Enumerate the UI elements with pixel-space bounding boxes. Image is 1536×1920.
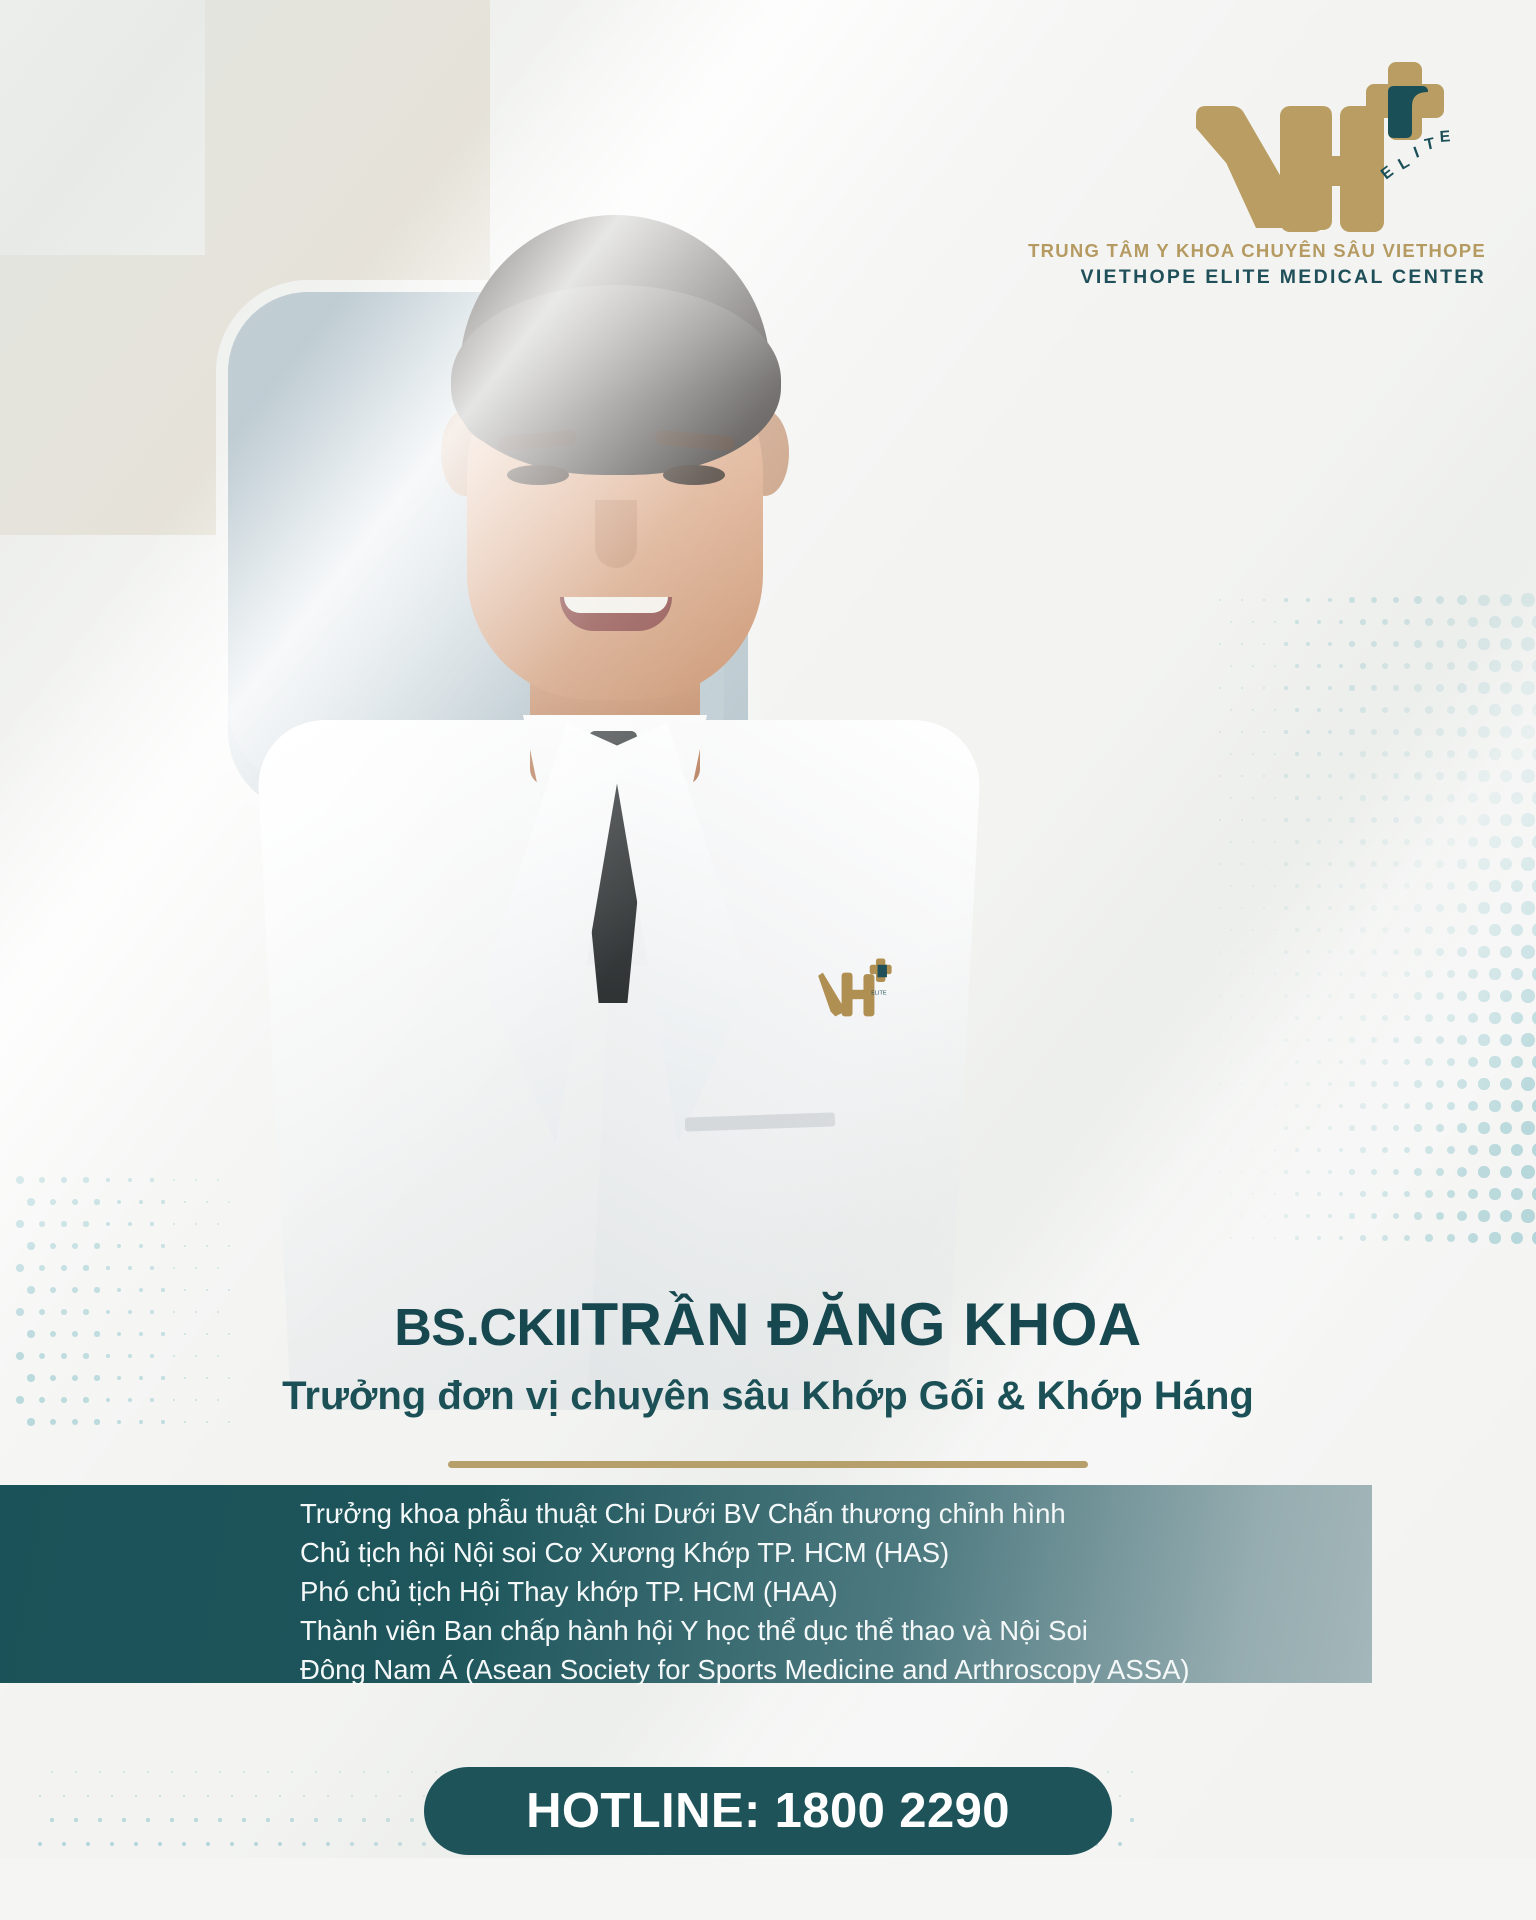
- teeth: [564, 597, 668, 613]
- credential-line: Thành viên Ban chấp hành hội Y học thể d…: [300, 1611, 1360, 1650]
- mouth: [560, 597, 672, 631]
- svg-text:ELITE: ELITE: [871, 990, 887, 996]
- doctor-portrait: ELITE: [255, 215, 975, 1395]
- hotline-label: HOTLINE: 1800 2290: [526, 1783, 1010, 1839]
- credential-line: Chủ tịch hội Nội soi Cơ Xương Khớp TP. H…: [300, 1533, 1360, 1572]
- vh-elite-logo-icon: E L I T E: [1188, 58, 1488, 238]
- hotline-button[interactable]: HOTLINE: 1800 2290: [424, 1767, 1112, 1855]
- credential-line: Trưởng khoa phẫu thuật Chi Dưới BV Chấn …: [300, 1494, 1360, 1533]
- svg-text:T: T: [1423, 135, 1436, 154]
- eye-left: [507, 465, 569, 485]
- credentials-list: Trưởng khoa phẫu thuật Chi Dưới BV Chấn …: [300, 1494, 1360, 1689]
- coat-vh-logo-icon: ELITE: [815, 955, 901, 1023]
- credential-line: Đông Nam Á (Asean Society for Sports Med…: [300, 1650, 1360, 1689]
- bottom-strip: [0, 1858, 1536, 1920]
- doctor-name: TRẦN ĐĂNG KHOA: [581, 1291, 1141, 1358]
- nose: [595, 500, 637, 568]
- svg-text:E: E: [1439, 128, 1451, 146]
- doctor-name-row: BS.CKIITRẦN ĐĂNG KHOA: [0, 1290, 1536, 1359]
- doctor-title-prefix: BS.CKII: [394, 1299, 581, 1357]
- brand-tagline-en: VIETHOPE ELITE MEDICAL CENTER: [1081, 266, 1486, 289]
- brand-tagline-vi: TRUNG TÂM Y KHOA CHUYÊN SÂU VIETHOPE: [1028, 240, 1486, 262]
- eye-right: [663, 465, 725, 485]
- doctor-role: Trưởng đơn vị chuyên sâu Khớp Gối & Khớp…: [0, 1374, 1536, 1419]
- brand-lockup: E L I T E TRUNG TÂM Y KHOA CHUYÊN SÂU VI…: [1074, 58, 1494, 298]
- credential-line: Phó chủ tịch Hội Thay khớp TP. HCM (HAA): [300, 1572, 1360, 1611]
- svg-text:L: L: [1396, 154, 1413, 174]
- svg-text:I: I: [1412, 144, 1422, 161]
- gold-divider: [448, 1461, 1088, 1468]
- poster-canvas: ELITE E L I T E TRU: [0, 0, 1536, 1920]
